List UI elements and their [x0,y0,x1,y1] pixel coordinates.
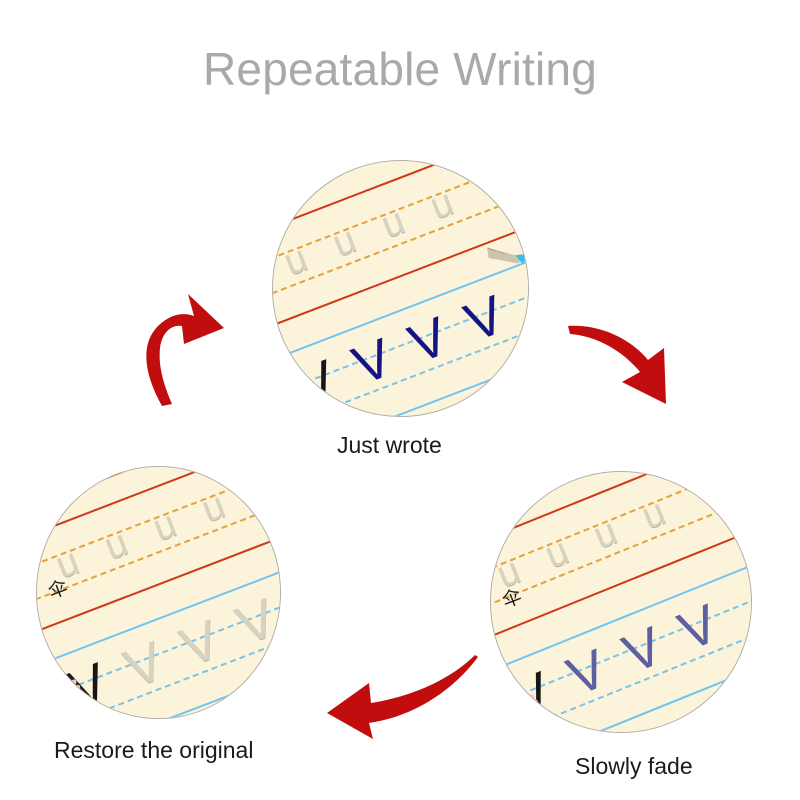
page-title: Repeatable Writing [0,42,800,96]
curved-arrow-icon-left [128,288,243,406]
letter-u-traced: u [540,532,574,575]
step-image-just-wrote: u u u u u V V V V [272,160,529,417]
letter-v-ink: V [346,330,399,393]
step-label-restore-original: Restore the original [54,737,253,764]
practice-sheet: u u u u u V V V V [272,160,529,417]
letter-u-traced: u [100,524,133,567]
letter-u-traced: u [148,505,181,548]
letter-u-traced: u [279,239,312,282]
letter-u-traced: u [425,183,458,226]
letter-v-fading: V [672,596,726,660]
step-image-slowly-fade: u u u u u V V V V V V 伞 [490,471,752,733]
flower-icon [59,675,93,705]
letter-v-traced: V [174,612,227,675]
letter-v-traced: V [118,634,171,697]
step-image-restore-original: u u u u u V V V V 伞 [36,466,281,719]
letter-u-traced: u [197,486,230,529]
curved-arrow-icon-bottom [325,655,480,740]
letter-v-fading: V [560,641,614,705]
letter-u-traced: u [328,220,361,263]
curved-arrow-icon-right [566,286,686,411]
flower-icon [517,690,551,720]
letter-v-fading: V [616,619,670,683]
step-label-slowly-fade: Slowly fade [575,753,693,780]
letter-v-ink: V [458,287,511,350]
letter-u-traced: u [637,493,671,536]
letter-v-traced: V [230,591,281,654]
letter-u-traced: u [588,512,622,555]
step-label-just-wrote: Just wrote [337,432,442,459]
letter-u-traced: u [376,202,409,245]
letter-v-ink: V [402,309,455,372]
letter-v-written: V [290,352,343,415]
